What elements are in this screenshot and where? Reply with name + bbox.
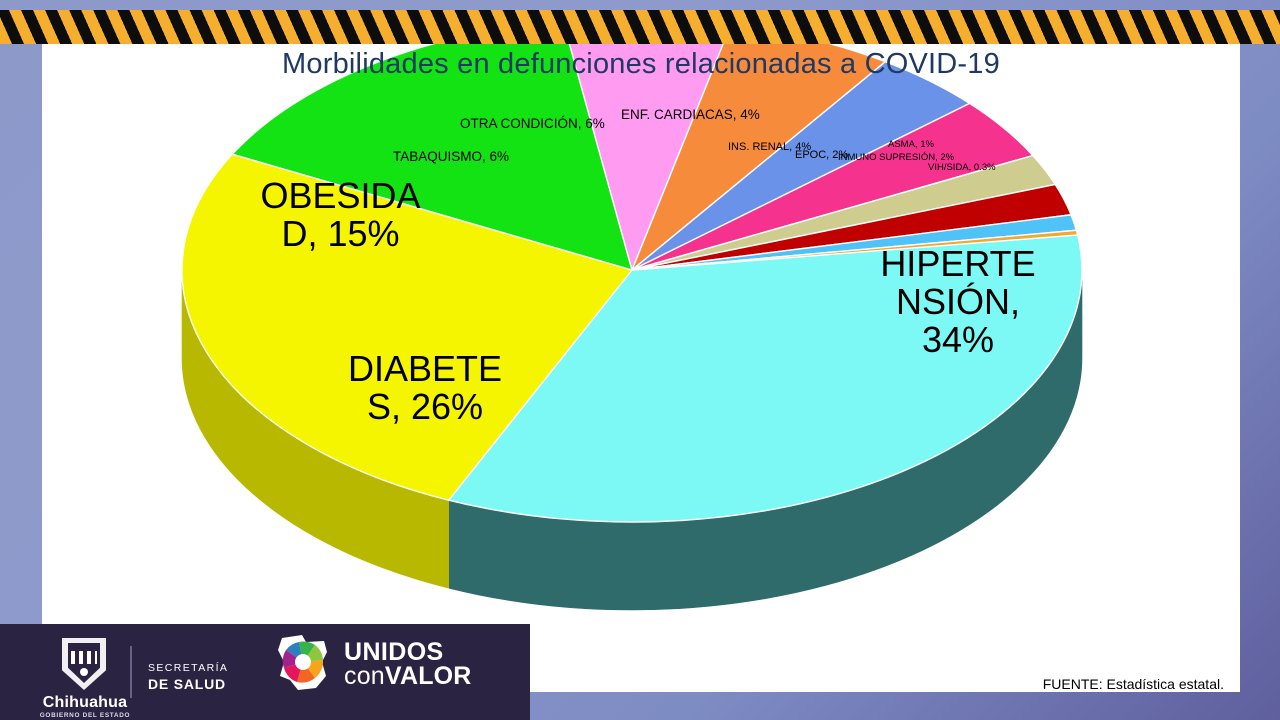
- state-name-label: Chihuahua: [36, 694, 134, 712]
- logo-divider: [130, 646, 132, 698]
- pie-slice-tops: [182, 44, 1082, 522]
- page-title: Morbilidades en defunciones relacionadas…: [42, 48, 1240, 81]
- secretaria-line1-label: SECRETARÍA: [148, 662, 228, 674]
- con-valor-label: conVALOR: [344, 662, 472, 691]
- chihuahua-shield-dot-icon: [80, 668, 88, 676]
- state-subtitle-label: GOBIERNO DEL ESTADO: [30, 712, 140, 719]
- pie-chart-svg: [42, 44, 1240, 692]
- pie-chart: [42, 44, 1240, 692]
- con-text: con: [344, 662, 385, 690]
- secretaria-line2-label: DE SALUD: [148, 676, 226, 692]
- chihuahua-shield-bars-icon: [71, 651, 97, 664]
- valor-text: VALOR: [385, 662, 472, 690]
- source-note: FUENTE: Estadística estatal.: [1043, 676, 1224, 692]
- unidos-con-valor-state-icon: [272, 632, 336, 694]
- hazard-stripe-banner: [0, 10, 1280, 44]
